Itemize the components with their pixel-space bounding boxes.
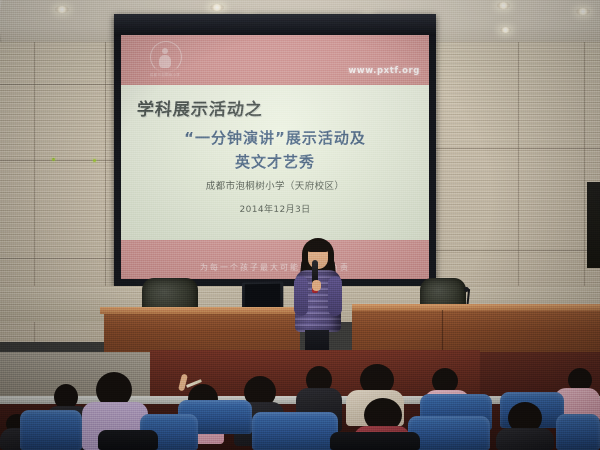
presenter-girl [289, 238, 347, 358]
ceiling-downlight [576, 8, 590, 15]
wall-seam [0, 84, 124, 85]
auditorium-photo: 成都市泡桐树小学 www.pxtf.org 学科展示活动之 “一分钟演讲”展示活… [0, 0, 600, 450]
indicator-light [93, 159, 96, 162]
desk-surface [352, 304, 600, 311]
slide-body: 学科展示活动之 “一分钟演讲”展示活动及 英文才艺秀 成都市泡桐树小学（天府校区… [121, 85, 429, 240]
wall-seam [432, 148, 600, 149]
wall-seam [0, 258, 124, 259]
logo-caption: 成都市泡桐树小学 [137, 72, 193, 77]
ceiling-downlight [210, 4, 224, 11]
slide-school-name: 成都市泡桐树小学（天府校区） [121, 178, 429, 192]
auditorium-seat [408, 416, 490, 450]
projection-screen-frame: 成都市泡桐树小学 www.pxtf.org 学科展示活动之 “一分钟演讲”展示活… [114, 14, 436, 286]
presenter-hand [312, 280, 321, 291]
slide-heading-main: 学科展示活动之 [136, 95, 264, 120]
ceiling-downlight [55, 6, 69, 13]
wall-seam [0, 160, 124, 161]
school-logo: 成都市泡桐树小学 [137, 40, 193, 82]
auditorium-seat [98, 430, 158, 450]
slide-heading-line1: “一分钟演讲”展示活动及 [121, 127, 429, 148]
presenter-arm [294, 276, 308, 316]
slide-motto: 为每一个孩子最大可能的发展负责 [121, 262, 429, 273]
audience-kid [496, 402, 554, 450]
wall-seam [432, 250, 600, 251]
logo-figure-icon [162, 48, 168, 54]
slide-website-url: www.pxtf.org [348, 66, 420, 76]
ceiling-downlight [500, 27, 511, 33]
presenter-arm [328, 276, 342, 316]
laptop-screen [245, 284, 280, 309]
slide-date: 2014年12月3日 [121, 202, 429, 215]
auditorium-seat [252, 412, 338, 450]
ceiling-downlight [497, 2, 510, 9]
auditorium-seat [556, 414, 600, 450]
auditorium-seat [20, 410, 82, 450]
desk-surface [100, 307, 304, 314]
projection-screen: 成都市泡桐树小学 www.pxtf.org 学科展示活动之 “一分钟演讲”展示活… [121, 35, 429, 279]
indicator-light [52, 158, 55, 161]
slide-heading-line2: 英文才艺秀 [121, 151, 429, 172]
kid-coat [496, 428, 554, 450]
auditorium-seat [330, 432, 420, 450]
slide-header-band: 成都市泡桐树小学 www.pxtf.org [121, 35, 429, 85]
slide-footer-band: 为每一个孩子最大可能的发展负责 [121, 240, 429, 279]
presenter-fringe [306, 241, 330, 252]
wall-speaker-panel [587, 182, 600, 268]
